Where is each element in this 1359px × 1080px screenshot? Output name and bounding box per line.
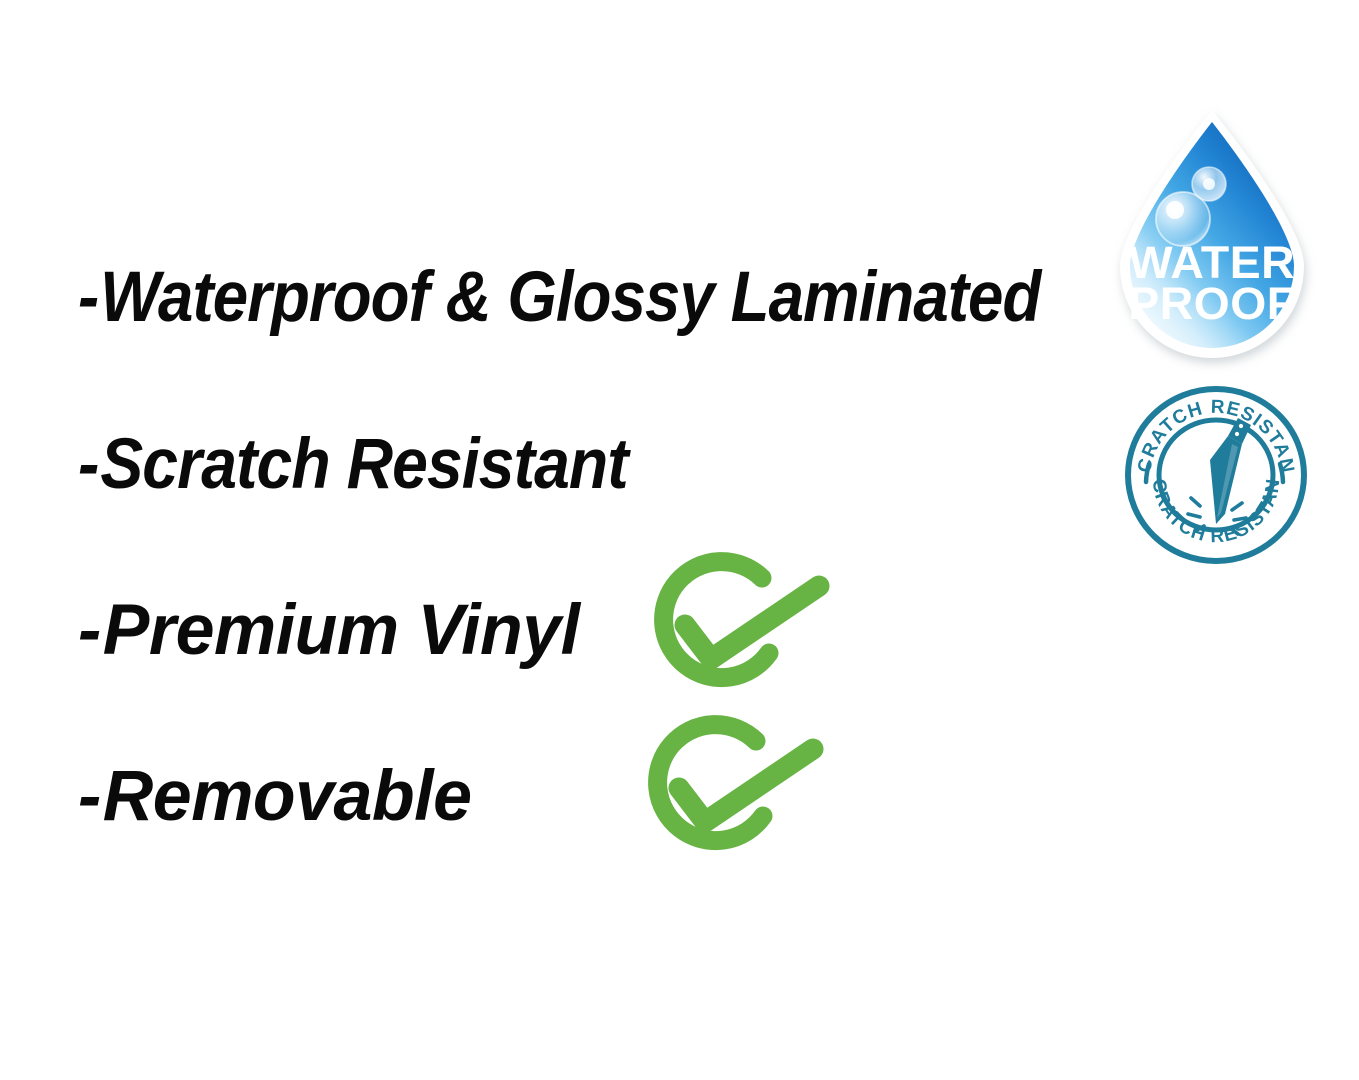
bullet-dash-2: - (78, 595, 101, 666)
check-tick (685, 586, 819, 659)
bullet-dash-0: - (78, 262, 98, 333)
check-tick (679, 749, 813, 822)
feature-label-3: Removable (103, 761, 472, 832)
waterproof-line2: PROOF (1128, 279, 1295, 329)
feature-line-removable: -Removable (78, 761, 471, 832)
green-check-icon-premium-vinyl (639, 552, 839, 712)
scratch-resistant-badge: SCRATCH RESISTANT SCRATCH RESISTANT (1120, 378, 1312, 566)
bullet-dash-1: - (78, 429, 99, 500)
waterproof-badge: WATER PROOF (1104, 106, 1320, 362)
green-check-icon-removable (633, 715, 833, 875)
feature-label-2: Premium Vinyl (103, 595, 580, 666)
bullet-dash-3: - (78, 761, 101, 832)
knife-icon (1188, 418, 1251, 534)
feature-label-0: Waterproof & Glossy Laminated (100, 262, 1040, 333)
feature-line-premium-vinyl: -Premium Vinyl (78, 595, 580, 666)
feature-label-1: Scratch Resistant (100, 429, 627, 500)
feature-line-waterproof: -Waterproof & Glossy Laminated (78, 262, 1040, 333)
feature-graphic-canvas: -Waterproof & Glossy Laminated -Scratch … (0, 0, 1359, 1080)
feature-line-scratch-resistant: -Scratch Resistant (78, 429, 628, 500)
